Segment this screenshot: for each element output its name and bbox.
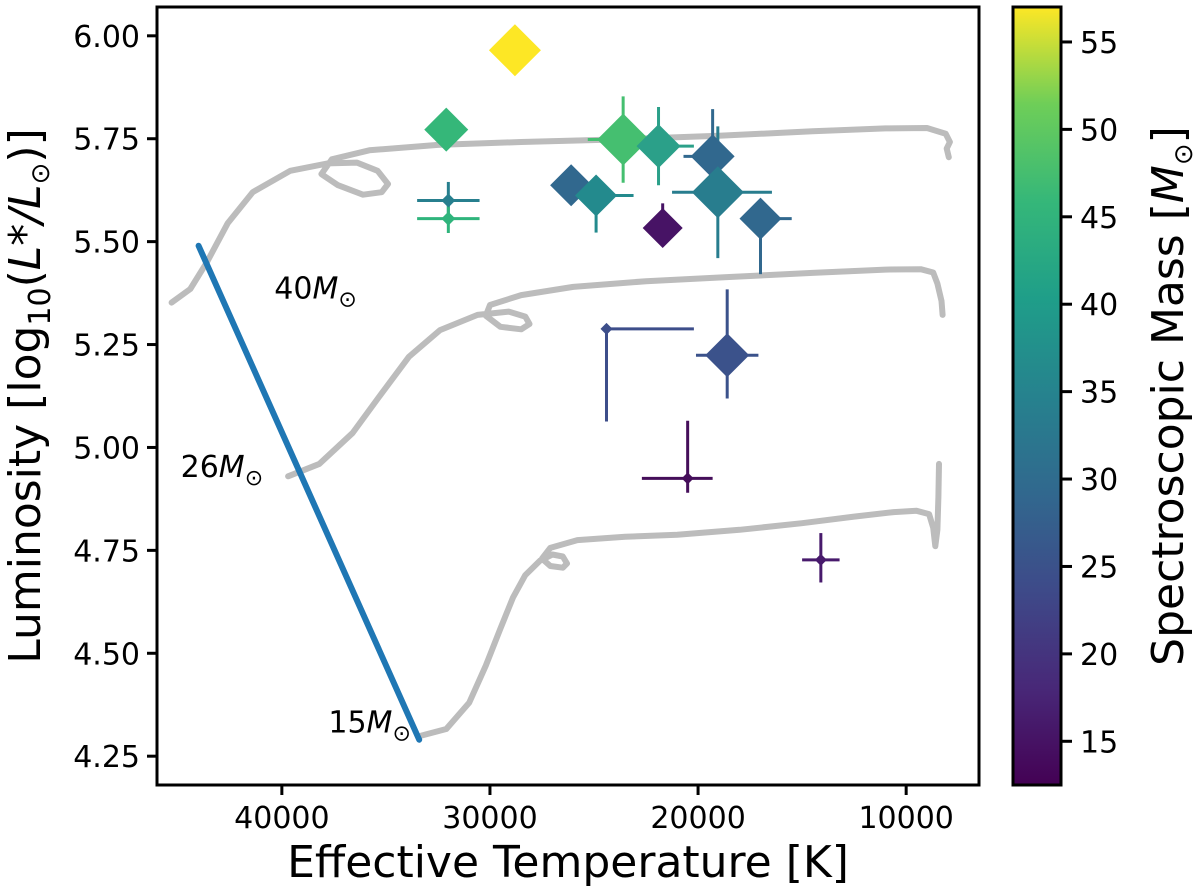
colorbar-tick-label: 35 (1080, 376, 1118, 411)
colorbar[interactable]: 152025303540455055 Spectroscopic Mass [M… (1013, 7, 1199, 785)
y-tick-label: 5.50 (73, 226, 140, 261)
colorbar-label: Spectroscopic Mass [M⊙] (1143, 126, 1199, 666)
annot-msym-a40: M (312, 271, 338, 306)
y-tick-label: 4.75 (73, 534, 140, 569)
colorbar-tick-label: 30 (1080, 463, 1118, 498)
ylabel-prefix: Luminosity [log (0, 326, 51, 664)
annot-mass-a15: 15 (328, 705, 366, 740)
y-axis-label: Luminosity [log10(L*/L⊙)] (0, 128, 58, 664)
ylabel-close: )] (0, 128, 51, 162)
cb-label-sun: ⊙ (1169, 143, 1199, 165)
y-tick-label: 4.25 (73, 740, 140, 775)
annot-mass-a26: 26 (181, 450, 219, 485)
ylabel-sunsym: ⊙ (26, 163, 56, 185)
y-axis-label-text: Luminosity [log10(L*/L⊙)] (0, 128, 58, 664)
colorbar-tick-label: 45 (1080, 201, 1118, 236)
hr-diagram-figure: 40M⊙26M⊙15M⊙ 40000300002000010000 6.005.… (0, 0, 1200, 895)
ylabel-lsun: L (0, 184, 51, 209)
annot-msym-a26: M (219, 450, 245, 485)
x-tick-label: 10000 (858, 801, 953, 836)
colorbar-ticks: 152025303540455055 (1061, 26, 1118, 760)
plot-svg: 40M⊙26M⊙15M⊙ 40000300002000010000 6.005.… (0, 0, 1200, 895)
x-tick-label: 20000 (650, 801, 745, 836)
colorbar-gradient (1013, 7, 1061, 785)
axes-background (157, 7, 979, 785)
y-tick-label: 5.00 (73, 431, 140, 466)
colorbar-tick-label: 20 (1080, 638, 1118, 673)
ylabel-sub10: 10 (23, 287, 58, 325)
y-tick-label: 6.00 (73, 20, 140, 55)
y-tick-label: 5.75 (73, 123, 140, 158)
colorbar-tick-label: 40 (1080, 288, 1118, 323)
y-axis-ticks: 6.005.755.505.255.004.754.504.25 (73, 20, 157, 775)
cb-label-prefix: Spectroscopic Mass [ (1143, 203, 1194, 666)
cb-label-m: M (1143, 165, 1194, 203)
annot-sunsym-a40: ⊙ (338, 287, 356, 312)
ylabel-open: ( (0, 270, 51, 287)
cb-label-suffix: ] (1143, 126, 1194, 143)
x-axis-label: Effective Temperature [K] (287, 837, 849, 888)
annot-mass-a40: 40 (274, 271, 312, 306)
colorbar-tick-label: 25 (1080, 550, 1118, 585)
annot-msym-a15: M (367, 705, 393, 740)
x-axis-label-text: Effective Temperature [K] (287, 837, 849, 888)
colorbar-tick-label: 50 (1080, 113, 1118, 148)
colorbar-label-text: Spectroscopic Mass [M⊙] (1143, 126, 1199, 666)
y-tick-label: 4.50 (73, 637, 140, 672)
x-axis-ticks: 40000300002000010000 (234, 785, 954, 836)
y-tick-label: 5.25 (73, 329, 140, 364)
colorbar-tick-label: 55 (1080, 26, 1118, 61)
annot-sunsym-a15: ⊙ (392, 721, 410, 746)
ylabel-lstar: L (0, 246, 51, 271)
x-tick-label: 40000 (234, 801, 329, 836)
x-tick-label: 30000 (442, 801, 537, 836)
colorbar-tick-label: 15 (1080, 725, 1118, 760)
annot-sunsym-a26: ⊙ (245, 466, 263, 491)
ylabel-star: * (0, 224, 51, 246)
